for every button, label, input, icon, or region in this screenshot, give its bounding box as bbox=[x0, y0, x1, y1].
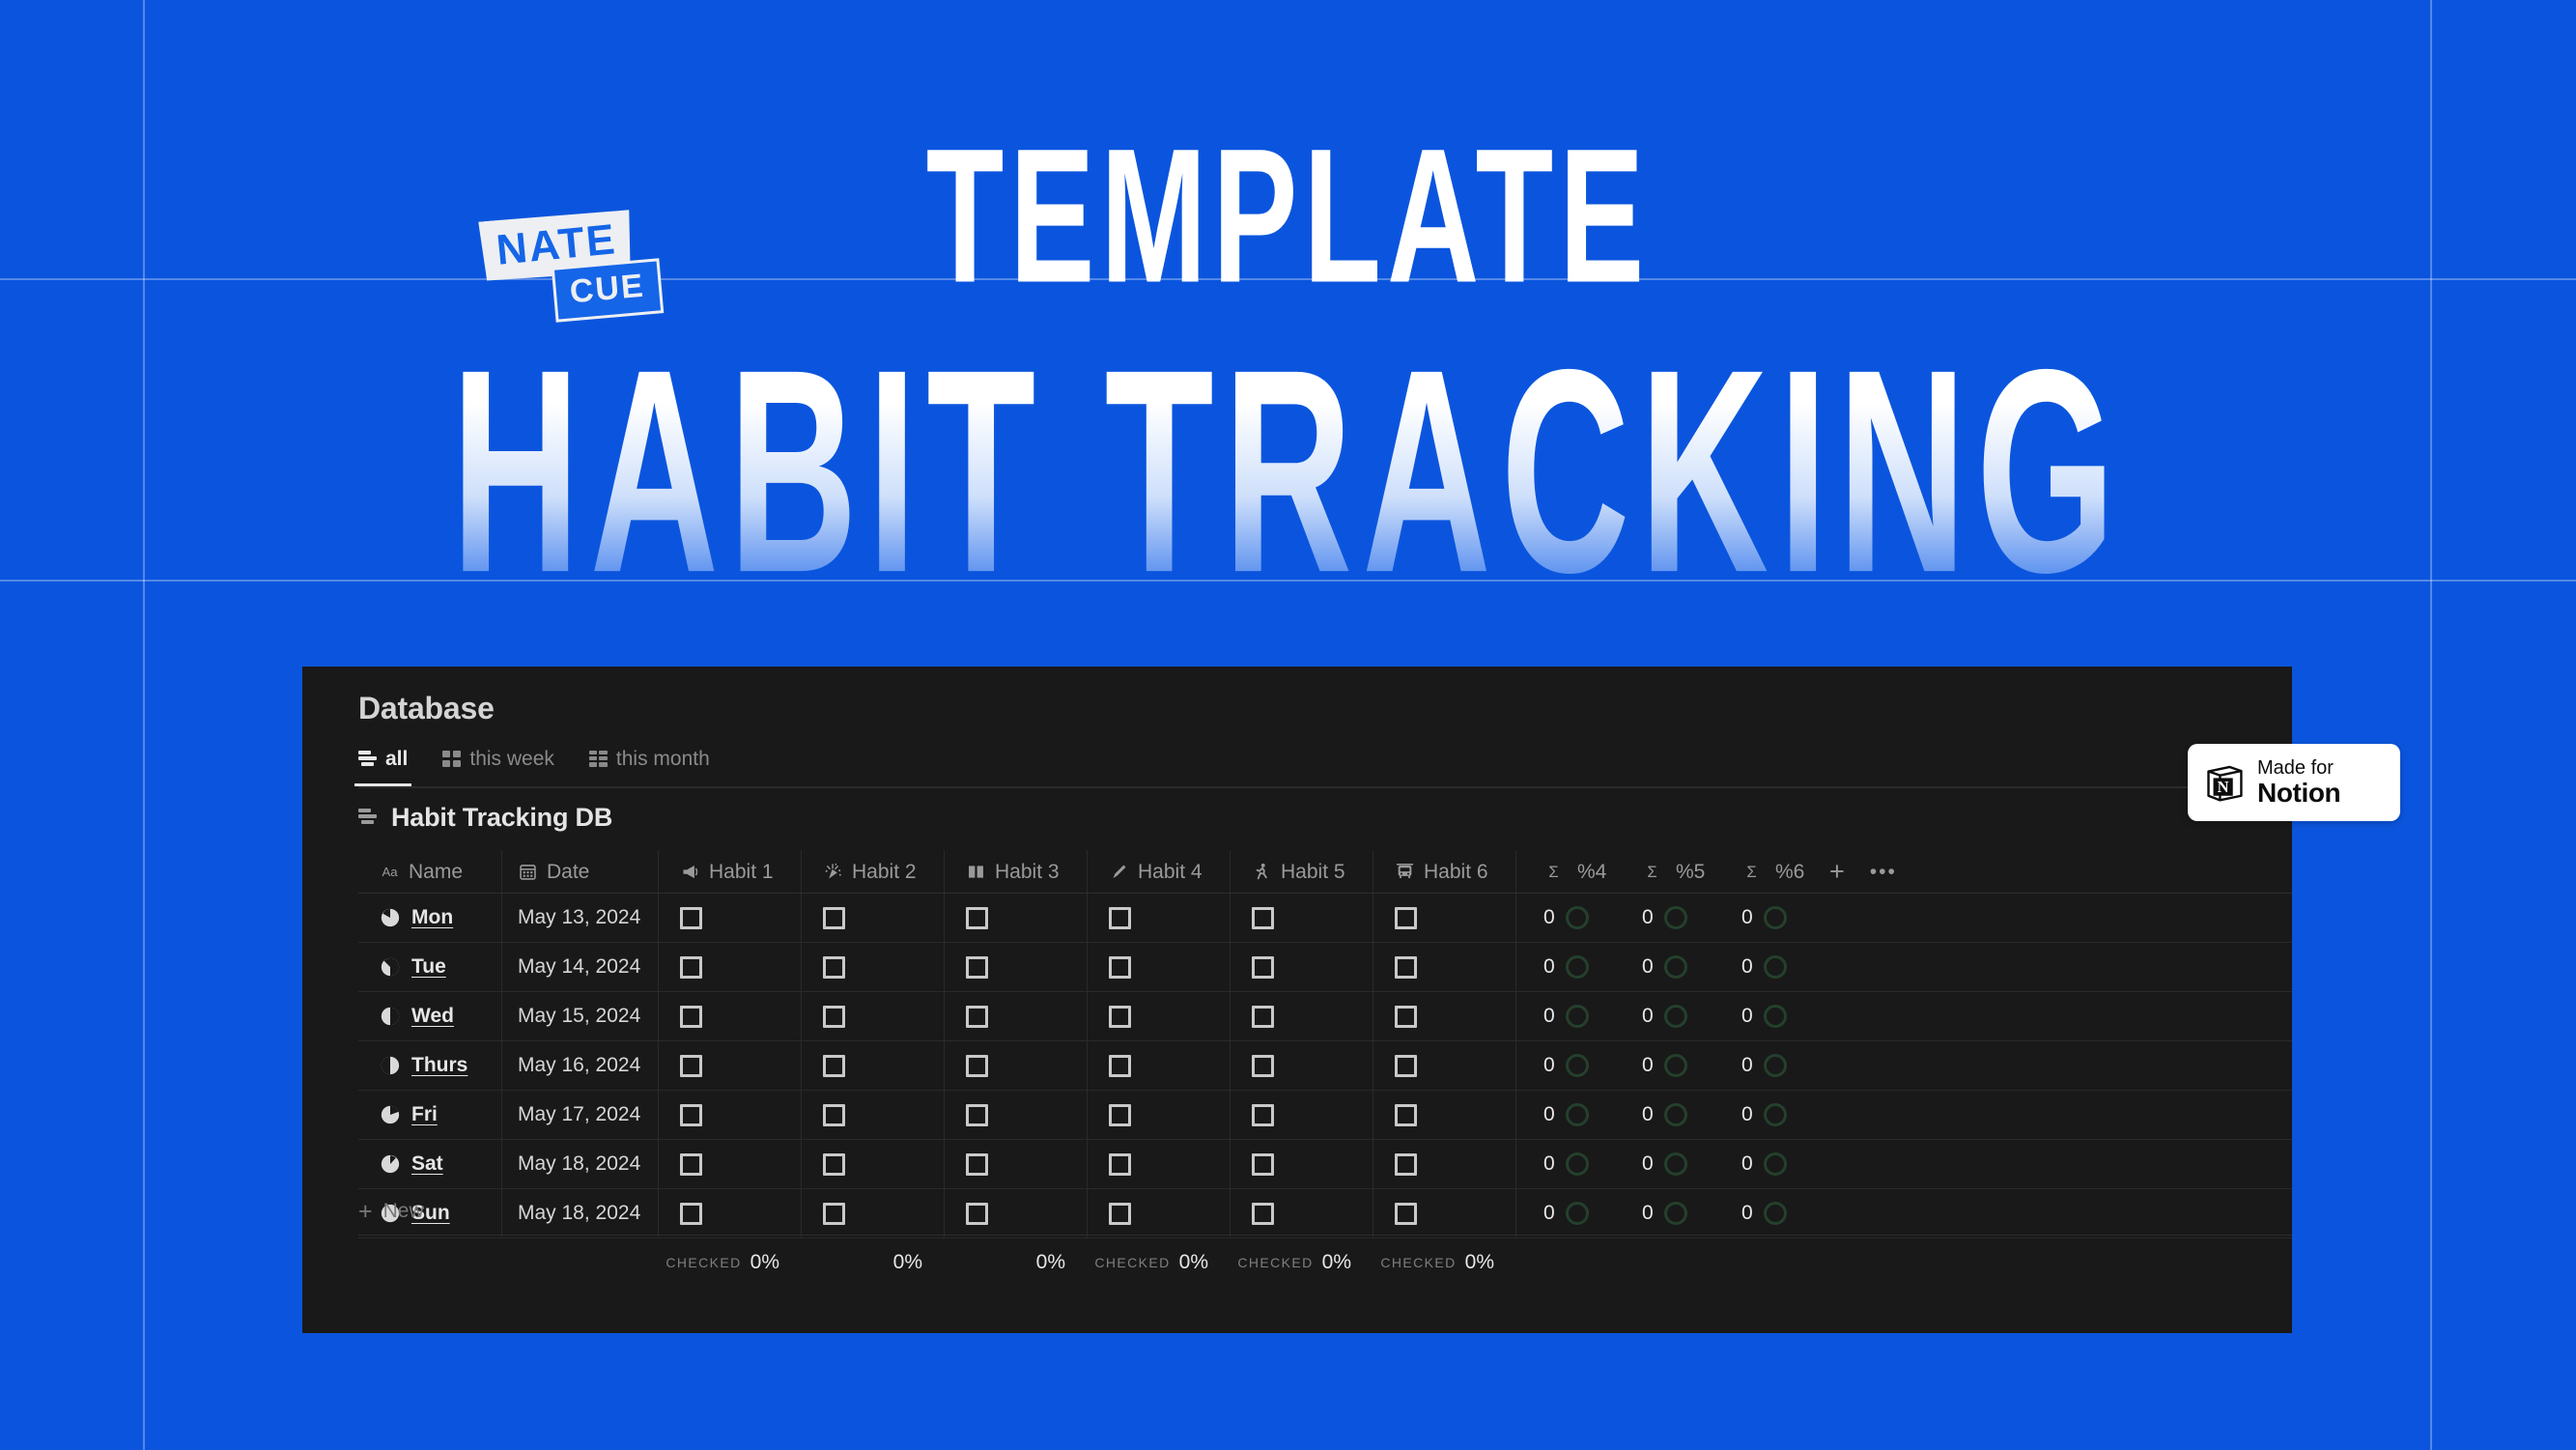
checkbox-unchecked-icon[interactable] bbox=[1109, 1055, 1131, 1077]
progress-ring-icon bbox=[1566, 1202, 1589, 1225]
column-header-label: Habit 4 bbox=[1138, 862, 1203, 882]
cell-percent-5[interactable]: 0 bbox=[1615, 1140, 1714, 1188]
cell-percent-6[interactable]: 0 bbox=[1714, 1041, 1814, 1090]
cell-percent-5[interactable]: 0 bbox=[1615, 1091, 1714, 1139]
percent-value: 0 bbox=[1543, 1005, 1555, 1028]
aggregation-value: 0% bbox=[750, 1251, 779, 1274]
cell-habit-2[interactable] bbox=[801, 1189, 944, 1237]
cell-habit-4[interactable] bbox=[1087, 894, 1230, 942]
percent-value: 0 bbox=[1543, 1103, 1555, 1126]
tabs-divider bbox=[358, 786, 2292, 788]
checkbox-unchecked-icon[interactable] bbox=[823, 907, 845, 929]
percent-value: 0 bbox=[1642, 1054, 1654, 1077]
cell-habit-4[interactable] bbox=[1087, 992, 1230, 1040]
checkbox-unchecked-icon[interactable] bbox=[1252, 1055, 1274, 1077]
column-header-label: %5 bbox=[1676, 862, 1705, 882]
column-header-habit-6[interactable]: Habit 6 bbox=[1373, 850, 1515, 893]
progress-ring-icon bbox=[1566, 1054, 1589, 1077]
checkbox-unchecked-icon[interactable] bbox=[823, 1203, 845, 1225]
checkbox-unchecked-icon[interactable] bbox=[680, 1153, 702, 1176]
column-header-label: %6 bbox=[1775, 862, 1804, 882]
table-header-row: Aa Name Date bbox=[358, 850, 2292, 894]
date-value: May 18, 2024 bbox=[518, 1202, 640, 1225]
cell-percent-6[interactable]: 0 bbox=[1714, 1189, 1814, 1237]
progress-ring-icon bbox=[1764, 1103, 1787, 1126]
cell-habit-1[interactable] bbox=[658, 1189, 801, 1237]
view-tab-label: all bbox=[385, 749, 408, 769]
sigma-icon: Σ bbox=[1642, 862, 1662, 882]
percent-value: 0 bbox=[1741, 1152, 1753, 1176]
checkbox-unchecked-icon[interactable] bbox=[680, 907, 702, 929]
percent-value: 0 bbox=[1642, 906, 1654, 929]
cell-name[interactable]: Tue bbox=[358, 943, 501, 991]
badge-text: Made for Notion bbox=[2257, 758, 2340, 807]
column-header-label: Habit 6 bbox=[1424, 862, 1488, 882]
percent-value: 0 bbox=[1741, 1005, 1753, 1028]
checkbox-unchecked-icon[interactable] bbox=[823, 1153, 845, 1176]
moon-waxing-gibbous-icon bbox=[380, 1104, 401, 1125]
cell-habit-3[interactable] bbox=[944, 943, 1087, 991]
checkbox-unchecked-icon[interactable] bbox=[966, 1104, 988, 1126]
percent-value: 0 bbox=[1642, 1103, 1654, 1126]
moon-half-right-icon bbox=[380, 1055, 401, 1076]
checkbox-unchecked-icon[interactable] bbox=[966, 1006, 988, 1028]
cell-percent-6[interactable]: 0 bbox=[1714, 1140, 1814, 1188]
checkbox-unchecked-icon[interactable] bbox=[1395, 907, 1417, 929]
checkbox-unchecked-icon[interactable] bbox=[680, 1203, 702, 1225]
progress-ring-icon bbox=[1764, 906, 1787, 929]
percent-value: 0 bbox=[1741, 906, 1753, 929]
progress-ring-icon bbox=[1664, 955, 1687, 979]
cell-percent-6[interactable]: 0 bbox=[1714, 1091, 1814, 1139]
view-tabs: all this week this month bbox=[358, 741, 710, 776]
cell-habit-4[interactable] bbox=[1087, 1041, 1230, 1090]
cell-date[interactable]: May 13, 2024 bbox=[501, 894, 658, 942]
cell-habit-1[interactable] bbox=[658, 1091, 801, 1139]
column-header-habit-1[interactable]: Habit 1 bbox=[658, 850, 801, 893]
cell-habit-1[interactable] bbox=[658, 943, 801, 991]
table-row[interactable]: SatMay 18, 2024000 bbox=[358, 1140, 2292, 1189]
svg-text:Σ: Σ bbox=[1746, 862, 1756, 880]
cell-name[interactable]: Fri bbox=[358, 1091, 501, 1139]
column-header-label: Habit 2 bbox=[852, 862, 917, 882]
cell-tail bbox=[1814, 1091, 1911, 1139]
badge-line-2: Notion bbox=[2257, 779, 2340, 807]
cell-habit-6[interactable] bbox=[1373, 894, 1515, 942]
progress-ring-icon bbox=[1664, 1103, 1687, 1126]
percent-value: 0 bbox=[1741, 1054, 1753, 1077]
percent-value: 0 bbox=[1642, 1152, 1654, 1176]
aggregation-value: 0% bbox=[1036, 1251, 1065, 1274]
cell-habit-3[interactable] bbox=[944, 1041, 1087, 1090]
moon-nearly-full-icon bbox=[380, 1153, 401, 1175]
cell-percent-4[interactable]: 0 bbox=[1515, 1189, 1615, 1237]
svg-text:N: N bbox=[2218, 778, 2229, 796]
checkbox-unchecked-icon[interactable] bbox=[1109, 1006, 1131, 1028]
moon-half-left-icon bbox=[380, 1006, 401, 1027]
notion-database-panel: Database all this week this month Habit … bbox=[302, 667, 2292, 1333]
svg-text:Σ: Σ bbox=[1548, 862, 1558, 880]
cell-habit-4[interactable] bbox=[1087, 1189, 1230, 1237]
moon-waning-crescent-icon bbox=[380, 907, 401, 928]
date-value: May 14, 2024 bbox=[518, 955, 640, 979]
table-row[interactable]: WedMay 15, 2024000 bbox=[358, 992, 2292, 1041]
cell-date[interactable]: May 16, 2024 bbox=[501, 1041, 658, 1090]
checkbox-unchecked-icon[interactable] bbox=[823, 1104, 845, 1126]
view-tab-label: this month bbox=[616, 749, 710, 769]
new-row-button[interactable]: + New bbox=[358, 1188, 424, 1235]
cell-habit-4[interactable] bbox=[1087, 943, 1230, 991]
checkbox-unchecked-icon[interactable] bbox=[1109, 956, 1131, 979]
percent-value: 0 bbox=[1543, 906, 1555, 929]
percent-value: 0 bbox=[1543, 955, 1555, 979]
day-name-label: Wed bbox=[411, 1005, 454, 1028]
aggregation-value: 0% bbox=[1322, 1251, 1351, 1274]
checkbox-unchecked-icon[interactable] bbox=[1395, 1203, 1417, 1225]
cell-name[interactable]: Wed bbox=[358, 992, 501, 1040]
cell-habit-3[interactable] bbox=[944, 894, 1087, 942]
table-row[interactable]: ThursMay 16, 2024000 bbox=[358, 1041, 2292, 1091]
aggregation-value: 0% bbox=[1465, 1251, 1494, 1274]
percent-value: 0 bbox=[1741, 955, 1753, 979]
percent-value: 0 bbox=[1543, 1152, 1555, 1176]
checkbox-unchecked-icon[interactable] bbox=[680, 1006, 702, 1028]
checkbox-unchecked-icon[interactable] bbox=[823, 1055, 845, 1077]
column-header-habit-3[interactable]: Habit 3 bbox=[944, 850, 1087, 893]
calendar-icon bbox=[518, 862, 538, 882]
view-tab-this-week[interactable]: this week bbox=[442, 741, 554, 776]
cell-date[interactable]: May 15, 2024 bbox=[501, 992, 658, 1040]
panel-title: Database bbox=[358, 691, 495, 726]
checkbox-unchecked-icon[interactable] bbox=[1252, 956, 1274, 979]
percent-value: 0 bbox=[1642, 1005, 1654, 1028]
date-value: May 13, 2024 bbox=[518, 906, 640, 929]
cell-habit-1[interactable] bbox=[658, 1041, 801, 1090]
progress-ring-icon bbox=[1764, 1152, 1787, 1176]
cell-tail bbox=[1814, 1189, 1911, 1237]
cell-percent-4[interactable]: 0 bbox=[1515, 943, 1615, 991]
date-value: May 16, 2024 bbox=[518, 1054, 640, 1077]
checkbox-unchecked-icon[interactable] bbox=[966, 956, 988, 979]
cell-percent-6[interactable]: 0 bbox=[1714, 943, 1814, 991]
progress-ring-icon bbox=[1566, 1152, 1589, 1176]
cell-percent-5[interactable]: 0 bbox=[1615, 992, 1714, 1040]
checkbox-unchecked-icon[interactable] bbox=[1395, 1153, 1417, 1176]
aggregation-label: CHECKED bbox=[665, 1255, 741, 1270]
cell-date[interactable]: May 18, 2024 bbox=[501, 1140, 658, 1188]
more-options-icon[interactable]: ••• bbox=[1870, 862, 1897, 882]
svg-text:Σ: Σ bbox=[1647, 862, 1656, 880]
cell-habit-5[interactable] bbox=[1230, 1041, 1373, 1090]
progress-ring-icon bbox=[1566, 1103, 1589, 1126]
open-book-icon bbox=[966, 862, 986, 882]
checkbox-unchecked-icon[interactable] bbox=[680, 1104, 702, 1126]
checkbox-unchecked-icon[interactable] bbox=[1109, 1104, 1131, 1126]
footer-cell-habit-3[interactable]: 0% bbox=[944, 1251, 1087, 1274]
aggregation-label: CHECKED bbox=[1237, 1255, 1313, 1270]
percent-value: 0 bbox=[1543, 1054, 1555, 1077]
notion-cube-icon: N bbox=[2203, 761, 2246, 804]
sigma-icon: Σ bbox=[1741, 862, 1762, 882]
cell-percent-4[interactable]: 0 bbox=[1515, 1140, 1615, 1188]
cell-tail bbox=[1814, 1041, 1911, 1090]
cell-name[interactable]: Sat bbox=[358, 1140, 501, 1188]
cell-habit-3[interactable] bbox=[944, 1091, 1087, 1139]
cell-habit-5[interactable] bbox=[1230, 1091, 1373, 1139]
cell-percent-5[interactable]: 0 bbox=[1615, 1189, 1714, 1237]
progress-ring-icon bbox=[1664, 1202, 1687, 1225]
column-header-pct-4[interactable]: Σ %4 bbox=[1515, 850, 1615, 893]
table-row[interactable]: MonMay 13, 2024000 bbox=[358, 894, 2292, 943]
text-aa-icon: Aa bbox=[380, 862, 400, 882]
checkbox-unchecked-icon[interactable] bbox=[1252, 907, 1274, 929]
cell-date[interactable]: May 14, 2024 bbox=[501, 943, 658, 991]
cell-percent-4[interactable]: 0 bbox=[1515, 992, 1615, 1040]
footer-cell-habit-4[interactable]: CHECKED0% bbox=[1087, 1251, 1230, 1274]
cell-percent-5[interactable]: 0 bbox=[1615, 894, 1714, 942]
view-tab-all[interactable]: all bbox=[358, 741, 408, 776]
column-header-label: Name bbox=[409, 862, 463, 882]
megaphone-icon bbox=[680, 862, 700, 882]
table-row[interactable]: SunMay 18, 2024000 bbox=[358, 1189, 2292, 1238]
cell-habit-6[interactable] bbox=[1373, 992, 1515, 1040]
pencil-icon bbox=[1109, 862, 1129, 882]
eyebrow-title: TEMPLATE bbox=[0, 121, 2576, 312]
plus-icon: + bbox=[358, 1200, 373, 1224]
walking-icon bbox=[1252, 862, 1272, 882]
cell-habit-5[interactable] bbox=[1230, 1140, 1373, 1188]
cell-percent-4[interactable]: 0 bbox=[1515, 894, 1615, 942]
cell-habit-3[interactable] bbox=[944, 1189, 1087, 1237]
column-header-label: Habit 5 bbox=[1281, 862, 1345, 882]
column-header-date[interactable]: Date bbox=[501, 850, 658, 893]
svg-text:Aa: Aa bbox=[382, 864, 398, 878]
cell-habit-4[interactable] bbox=[1087, 1091, 1230, 1139]
progress-ring-icon bbox=[1566, 1005, 1589, 1028]
table-body: MonMay 13, 2024000TueMay 14, 2024000WedM… bbox=[358, 894, 2292, 1238]
aggregation-label: CHECKED bbox=[1380, 1255, 1456, 1270]
table-footer: CHECKED0%0%0%CHECKED0%CHECKED0%CHECKED0% bbox=[358, 1236, 2292, 1290]
checkbox-unchecked-icon[interactable] bbox=[823, 1006, 845, 1028]
brand-logo: NATE CUE bbox=[481, 214, 713, 321]
cell-tail bbox=[1814, 943, 1911, 991]
progress-ring-icon bbox=[1664, 906, 1687, 929]
column-header-habit-2[interactable]: Habit 2 bbox=[801, 850, 944, 893]
date-value: May 18, 2024 bbox=[518, 1152, 640, 1176]
checkbox-unchecked-icon[interactable] bbox=[823, 956, 845, 979]
progress-ring-icon bbox=[1764, 1005, 1787, 1028]
footer-cell-habit-2[interactable]: 0% bbox=[801, 1251, 944, 1274]
view-tab-this-month[interactable]: this month bbox=[589, 741, 710, 776]
footer-cell-habit-5[interactable]: CHECKED0% bbox=[1230, 1251, 1373, 1274]
cell-name[interactable]: Mon bbox=[358, 894, 501, 942]
progress-ring-icon bbox=[1764, 955, 1787, 979]
cell-percent-6[interactable]: 0 bbox=[1714, 992, 1814, 1040]
add-column-icon[interactable]: + bbox=[1829, 859, 1845, 885]
column-header-habit-4[interactable]: Habit 4 bbox=[1087, 850, 1230, 893]
brand-logo-cue: CUE bbox=[554, 261, 661, 319]
made-for-notion-badge: N Made for Notion bbox=[2188, 744, 2400, 821]
cell-habit-6[interactable] bbox=[1373, 943, 1515, 991]
checkbox-unchecked-icon[interactable] bbox=[1252, 1006, 1274, 1028]
badge-line-1: Made for bbox=[2257, 758, 2340, 779]
progress-ring-icon bbox=[1664, 1152, 1687, 1176]
day-name-label: Thurs bbox=[411, 1054, 467, 1077]
database-title-row[interactable]: Habit Tracking DB bbox=[358, 803, 612, 833]
cell-date[interactable]: May 17, 2024 bbox=[501, 1091, 658, 1139]
table-view-icon bbox=[358, 751, 377, 767]
column-header-name[interactable]: Aa Name bbox=[358, 850, 501, 893]
cell-percent-5[interactable]: 0 bbox=[1615, 943, 1714, 991]
cell-habit-6[interactable] bbox=[1373, 1189, 1515, 1237]
column-header-pct-5[interactable]: Σ %5 bbox=[1615, 850, 1714, 893]
checkbox-unchecked-icon[interactable] bbox=[966, 1203, 988, 1225]
new-row-label: New bbox=[383, 1200, 424, 1223]
cell-habit-1[interactable] bbox=[658, 894, 801, 942]
cell-percent-5[interactable]: 0 bbox=[1615, 1041, 1714, 1090]
progress-ring-icon bbox=[1764, 1054, 1787, 1077]
progress-ring-icon bbox=[1664, 1005, 1687, 1028]
table-row[interactable]: FriMay 17, 2024000 bbox=[358, 1091, 2292, 1140]
percent-value: 0 bbox=[1741, 1202, 1753, 1225]
cell-habit-3[interactable] bbox=[944, 992, 1087, 1040]
cell-habit-2[interactable] bbox=[801, 1140, 944, 1188]
cell-habit-2[interactable] bbox=[801, 1041, 944, 1090]
day-name-label: Tue bbox=[411, 955, 446, 979]
bus-icon bbox=[1395, 862, 1415, 882]
column-header-actions: + ••• bbox=[1814, 850, 1911, 893]
column-header-label: Habit 1 bbox=[709, 862, 774, 882]
cell-habit-5[interactable] bbox=[1230, 992, 1373, 1040]
checkbox-unchecked-icon[interactable] bbox=[1252, 1104, 1274, 1126]
cell-tail bbox=[1814, 1140, 1911, 1188]
cell-habit-2[interactable] bbox=[801, 943, 944, 991]
column-header-label: Date bbox=[547, 862, 589, 882]
cell-date[interactable]: May 18, 2024 bbox=[501, 1189, 658, 1237]
cell-habit-6[interactable] bbox=[1373, 1091, 1515, 1139]
checkbox-unchecked-icon[interactable] bbox=[1252, 1153, 1274, 1176]
cell-habit-5[interactable] bbox=[1230, 894, 1373, 942]
cell-habit-2[interactable] bbox=[801, 992, 944, 1040]
cell-percent-4[interactable]: 0 bbox=[1515, 1091, 1615, 1139]
checkbox-unchecked-icon[interactable] bbox=[1109, 1153, 1131, 1176]
table-row[interactable]: TueMay 14, 2024000 bbox=[358, 943, 2292, 992]
cell-tail bbox=[1814, 894, 1911, 942]
cell-habit-4[interactable] bbox=[1087, 1140, 1230, 1188]
view-tab-label: this week bbox=[469, 749, 554, 769]
checkbox-unchecked-icon[interactable] bbox=[1395, 1104, 1417, 1126]
column-header-habit-5[interactable]: Habit 5 bbox=[1230, 850, 1373, 893]
moon-last-quarter-icon bbox=[380, 956, 401, 978]
cell-name[interactable]: Thurs bbox=[358, 1041, 501, 1090]
day-name-label: Sat bbox=[411, 1152, 443, 1176]
database-title: Habit Tracking DB bbox=[391, 803, 612, 833]
date-value: May 17, 2024 bbox=[518, 1103, 640, 1126]
cell-habit-1[interactable] bbox=[658, 1140, 801, 1188]
cell-habit-5[interactable] bbox=[1230, 1189, 1373, 1237]
sparkler-icon bbox=[823, 862, 843, 882]
percent-value: 0 bbox=[1543, 1202, 1555, 1225]
checkbox-unchecked-icon[interactable] bbox=[1395, 956, 1417, 979]
cell-habit-3[interactable] bbox=[944, 1140, 1087, 1188]
cell-tail bbox=[1814, 992, 1911, 1040]
sigma-icon: Σ bbox=[1543, 862, 1564, 882]
progress-ring-icon bbox=[1566, 906, 1589, 929]
cell-habit-2[interactable] bbox=[801, 1091, 944, 1139]
checkbox-unchecked-icon[interactable] bbox=[680, 956, 702, 979]
percent-value: 0 bbox=[1741, 1103, 1753, 1126]
table-header: Aa Name Date bbox=[358, 850, 2292, 894]
cell-habit-5[interactable] bbox=[1230, 943, 1373, 991]
day-name-label: Fri bbox=[411, 1103, 438, 1126]
checkbox-unchecked-icon[interactable] bbox=[966, 1055, 988, 1077]
column-header-label: Habit 3 bbox=[995, 862, 1060, 882]
aggregation-label: CHECKED bbox=[1094, 1255, 1170, 1270]
percent-value: 0 bbox=[1642, 1202, 1654, 1225]
checkbox-unchecked-icon[interactable] bbox=[1109, 1203, 1131, 1225]
habit-table: Aa Name Date bbox=[358, 850, 2292, 1238]
table-view-icon bbox=[358, 809, 380, 827]
progress-ring-icon bbox=[1566, 955, 1589, 979]
column-header-label: %4 bbox=[1577, 862, 1606, 882]
checkbox-unchecked-icon[interactable] bbox=[966, 1153, 988, 1176]
progress-ring-icon bbox=[1764, 1202, 1787, 1225]
checkbox-unchecked-icon[interactable] bbox=[1252, 1203, 1274, 1225]
progress-ring-icon bbox=[1664, 1054, 1687, 1077]
footer-cell-habit-1[interactable]: CHECKED0% bbox=[658, 1251, 801, 1274]
board-view-icon bbox=[442, 751, 461, 767]
column-header-pct-6[interactable]: Σ %6 bbox=[1714, 850, 1814, 893]
checkbox-unchecked-icon[interactable] bbox=[1395, 1055, 1417, 1077]
cell-percent-4[interactable]: 0 bbox=[1515, 1041, 1615, 1090]
hero-section: TEMPLATE HABIT TRACKING NATE CUE bbox=[0, 0, 2576, 667]
aggregation-value: 0% bbox=[893, 1251, 922, 1274]
date-value: May 15, 2024 bbox=[518, 1005, 640, 1028]
cell-habit-6[interactable] bbox=[1373, 1140, 1515, 1188]
cell-habit-1[interactable] bbox=[658, 992, 801, 1040]
footer-cell-habit-6[interactable]: CHECKED0% bbox=[1373, 1251, 1515, 1274]
cell-percent-6[interactable]: 0 bbox=[1714, 894, 1814, 942]
percent-value: 0 bbox=[1642, 955, 1654, 979]
gallery-view-icon bbox=[589, 751, 608, 767]
checkbox-unchecked-icon[interactable] bbox=[1109, 907, 1131, 929]
checkbox-unchecked-icon[interactable] bbox=[1395, 1006, 1417, 1028]
day-name-label: Mon bbox=[411, 906, 453, 929]
cell-habit-2[interactable] bbox=[801, 894, 944, 942]
page-title: HABIT TRACKING bbox=[0, 328, 2576, 618]
aggregation-value: 0% bbox=[1179, 1251, 1208, 1274]
checkbox-unchecked-icon[interactable] bbox=[966, 907, 988, 929]
cell-habit-6[interactable] bbox=[1373, 1041, 1515, 1090]
checkbox-unchecked-icon[interactable] bbox=[680, 1055, 702, 1077]
